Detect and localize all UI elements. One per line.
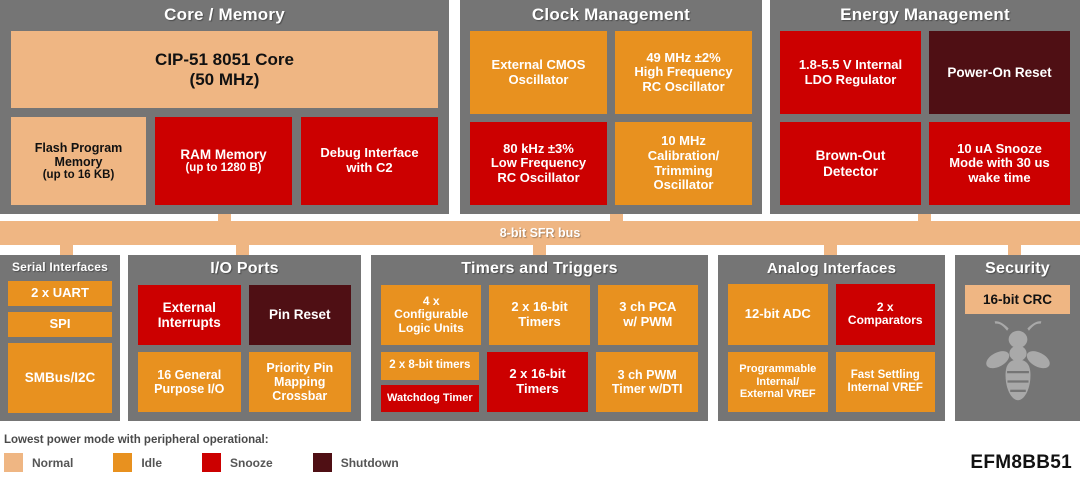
block-ldo-line2: LDO Regulator	[805, 73, 897, 88]
block-vrefprog-line2: Internal/	[756, 376, 799, 388]
block-ext-cmos-line2: Oscillator	[509, 73, 569, 88]
block-ram-line2: (up to 1280 B)	[185, 162, 261, 175]
block-wdt-label: Watchdog Timer	[387, 392, 473, 404]
block-cal-osc-line1: 10 MHz	[661, 134, 706, 149]
block-ext-int-line2: Interrupts	[158, 315, 221, 330]
section-energy-management: Energy Management 1.8-5.5 V Internal LDO…	[770, 0, 1080, 214]
block-adc-label: 12-bit ADC	[745, 307, 811, 322]
block-t16b-line1: 2 x 16-bit	[509, 367, 565, 382]
block-ext-int-line1: External	[163, 300, 216, 315]
block-cip51-core-line1: CIP-51 8051 Core	[155, 50, 294, 69]
section-clock-management: Clock Management External CMOS Oscillato…	[460, 0, 762, 214]
legend-swatch-normal	[4, 453, 23, 472]
section-title-security: Security	[955, 255, 1080, 285]
block-ext-cmos-line1: External CMOS	[492, 58, 586, 73]
block-vrefprog-line3: External VREF	[740, 388, 816, 400]
block-vrefprog-line1: Programmable	[739, 363, 816, 375]
block-smbus-label: SMBus/I2C	[25, 370, 96, 385]
block-vreffast-line1: Fast Settling	[851, 369, 920, 382]
block-programmable-vref[interactable]: Programmable Internal/ External VREF	[728, 352, 828, 413]
legend-label-idle: Idle	[141, 456, 162, 470]
block-ldo-regulator[interactable]: 1.8-5.5 V Internal LDO Regulator	[780, 31, 921, 114]
section-serial-interfaces: Serial Interfaces 2 x UART SPI SMBus/I2C	[0, 255, 120, 421]
block-por-line1: Power-On Reset	[947, 65, 1051, 80]
block-diagram: Core / Memory CIP-51 8051 Core (50 MHz) …	[0, 0, 1080, 481]
legend-label-shutdown: Shutdown	[341, 456, 399, 470]
sfr-bus: 8-bit SFR bus	[0, 221, 1080, 245]
section-security: Security 16-bit CRC	[955, 255, 1080, 421]
part-number: EFM8BB51	[970, 452, 1072, 474]
block-uart-label: 2 x UART	[31, 286, 89, 301]
legend-label-snooze: Snooze	[230, 456, 273, 470]
block-pca-line1: 3 ch PCA	[619, 300, 676, 315]
block-t16a-line1: 2 x 16-bit	[511, 300, 567, 315]
block-bod-line2: Detector	[823, 164, 878, 179]
section-title-serial-interfaces: Serial Interfaces	[0, 255, 120, 281]
block-comparators-line1: 2 x	[877, 301, 894, 314]
block-hfrc-line1: 49 MHz ±2%	[646, 51, 720, 66]
block-spi-label: SPI	[50, 317, 71, 332]
block-flash-program-memory[interactable]: Flash Program Memory (up to 16 KB)	[11, 117, 146, 205]
block-ldo-line1: 1.8-5.5 V Internal	[799, 58, 902, 73]
block-cip51-core[interactable]: CIP-51 8051 Core (50 MHz)	[11, 31, 438, 108]
block-priority-pin-crossbar[interactable]: Priority Pin Mapping Crossbar	[249, 352, 352, 412]
block-comparators[interactable]: 2 x Comparators	[836, 284, 936, 345]
section-title-io-ports: I/O Ports	[128, 255, 361, 285]
block-high-frequency-rc-oscillator[interactable]: 49 MHz ±2% High Frequency RC Oscillator	[615, 31, 752, 114]
block-crossbar-line1: Priority Pin	[266, 361, 333, 375]
block-ram-memory[interactable]: RAM Memory (up to 1280 B)	[155, 117, 292, 205]
legend-title: Lowest power mode with peripheral operat…	[4, 434, 644, 446]
section-title-analog-interfaces: Analog Interfaces	[718, 255, 945, 284]
block-gpio-line1: 16 General	[157, 368, 221, 382]
block-flash-line2: Memory	[55, 155, 103, 169]
legend: Lowest power mode with peripheral operat…	[4, 434, 644, 472]
block-pin-reset[interactable]: Pin Reset	[249, 285, 352, 345]
block-external-interrupts[interactable]: External Interrupts	[138, 285, 241, 345]
block-cal-osc-line4: Oscillator	[654, 178, 714, 193]
block-fast-settling-vref[interactable]: Fast Settling Internal VREF	[836, 352, 936, 413]
block-cal-osc-line3: Trimming	[654, 164, 713, 179]
block-ram-line1: RAM Memory	[180, 147, 266, 162]
legend-item-shutdown: Shutdown	[313, 453, 399, 472]
connector-bus-to-timers	[533, 245, 546, 255]
block-clu-line2: Configurable	[394, 308, 468, 321]
section-title-timers-and-triggers: Timers and Triggers	[371, 255, 708, 285]
block-lfrc-line2: Low Frequency	[491, 156, 586, 171]
block-cip51-core-line2: (50 MHz)	[190, 70, 260, 89]
block-cal-osc-line2: Calibration/	[648, 149, 720, 164]
block-debug-line1: Debug Interface	[320, 146, 418, 161]
connector-bus-to-io-ports	[236, 245, 249, 255]
block-configurable-logic-units[interactable]: 4 x Configurable Logic Units	[381, 285, 481, 345]
block-pwmdti-line1: 3 ch PWM	[618, 368, 677, 382]
block-pwm-timer-dti[interactable]: 3 ch PWM Timer w/DTI	[596, 352, 698, 412]
block-hfrc-line3: RC Oscillator	[642, 80, 724, 95]
block-adc[interactable]: 12-bit ADC	[728, 284, 828, 345]
block-vreffast-line2: Internal VREF	[848, 382, 923, 395]
block-crossbar-line2: Mapping	[274, 375, 325, 389]
block-clu-line1: 4 x	[423, 295, 440, 308]
section-analog-interfaces: Analog Interfaces 12-bit ADC 2 x Compara…	[718, 255, 945, 421]
connector-bus-to-serial	[60, 245, 73, 255]
section-title-energy-management: Energy Management	[770, 0, 1080, 31]
section-title-clock-management: Clock Management	[460, 0, 762, 31]
block-watchdog-timer[interactable]: Watchdog Timer	[381, 385, 479, 413]
block-snooze-mode[interactable]: 10 uA Snooze Mode with 30 us wake time	[929, 122, 1070, 205]
connector-bus-to-analog	[824, 245, 837, 255]
connector-bus-to-security	[1008, 245, 1021, 255]
block-crc-label: 16-bit CRC	[983, 292, 1052, 307]
block-general-purpose-io[interactable]: 16 General Purpose I/O	[138, 352, 241, 412]
block-clu-line3: Logic Units	[398, 322, 463, 335]
legend-swatch-shutdown	[313, 453, 332, 472]
legend-item-snooze: Snooze	[202, 453, 273, 472]
block-debug-line2: with C2	[346, 161, 392, 176]
block-crc[interactable]: 16-bit CRC	[965, 285, 1070, 314]
block-smbus-i2c[interactable]: SMBus/I2C	[8, 343, 112, 413]
block-power-on-reset[interactable]: Power-On Reset	[929, 31, 1070, 114]
block-snooze-line3: wake time	[968, 171, 1030, 186]
block-8bit-timers[interactable]: 2 x 8-bit timers	[381, 352, 479, 380]
block-t16b-line2: Timers	[516, 382, 558, 397]
block-crossbar-line3: Crossbar	[272, 389, 327, 403]
block-t8-label: 2 x 8-bit timers	[389, 359, 470, 372]
legend-swatch-snooze	[202, 453, 221, 472]
block-lfrc-line3: RC Oscillator	[497, 171, 579, 186]
block-pca-pwm[interactable]: 3 ch PCA w/ PWM	[598, 285, 698, 345]
block-flash-line3: (up to 16 KB)	[43, 169, 115, 182]
section-timers-and-triggers: Timers and Triggers 4 x Configurable Log…	[371, 255, 708, 421]
bee-icon	[979, 319, 1057, 405]
block-16bit-timers-idle[interactable]: 2 x 16-bit Timers	[489, 285, 589, 345]
block-brown-out-detector[interactable]: Brown-Out Detector	[780, 122, 921, 205]
legend-label-normal: Normal	[32, 456, 73, 470]
block-snooze-line2: Mode with 30 us	[949, 156, 1049, 171]
block-t16a-line2: Timers	[518, 315, 560, 330]
block-spi[interactable]: SPI	[8, 312, 112, 337]
block-low-frequency-rc-oscillator[interactable]: 80 kHz ±3% Low Frequency RC Oscillator	[470, 122, 607, 205]
block-hfrc-line2: High Frequency	[634, 65, 732, 80]
block-bod-line1: Brown-Out	[816, 148, 886, 163]
block-lfrc-line1: 80 kHz ±3%	[503, 142, 574, 157]
legend-item-normal: Normal	[4, 453, 73, 472]
block-pwmdti-line2: Timer w/DTI	[612, 382, 683, 396]
legend-item-idle: Idle	[113, 453, 162, 472]
block-flash-line1: Flash Program	[35, 141, 123, 155]
block-comparators-line2: Comparators	[848, 314, 923, 327]
block-snooze-line1: 10 uA Snooze	[957, 142, 1042, 157]
section-title-core-memory: Core / Memory	[0, 0, 449, 31]
block-debug-interface[interactable]: Debug Interface with C2	[301, 117, 438, 205]
block-pin-reset-label: Pin Reset	[269, 307, 331, 322]
block-gpio-line2: Purpose I/O	[154, 382, 224, 396]
section-core-memory: Core / Memory CIP-51 8051 Core (50 MHz) …	[0, 0, 449, 214]
block-external-cmos-oscillator[interactable]: External CMOS Oscillator	[470, 31, 607, 114]
block-uart[interactable]: 2 x UART	[8, 281, 112, 306]
block-calibration-trimming-oscillator[interactable]: 10 MHz Calibration/ Trimming Oscillator	[615, 122, 752, 205]
sfr-bus-label: 8-bit SFR bus	[500, 226, 581, 240]
block-16bit-timers-snooze[interactable]: 2 x 16-bit Timers	[487, 352, 589, 412]
block-pca-line2: w/ PWM	[623, 315, 672, 330]
legend-swatch-idle	[113, 453, 132, 472]
section-io-ports: I/O Ports External Interrupts Pin Reset …	[128, 255, 361, 421]
